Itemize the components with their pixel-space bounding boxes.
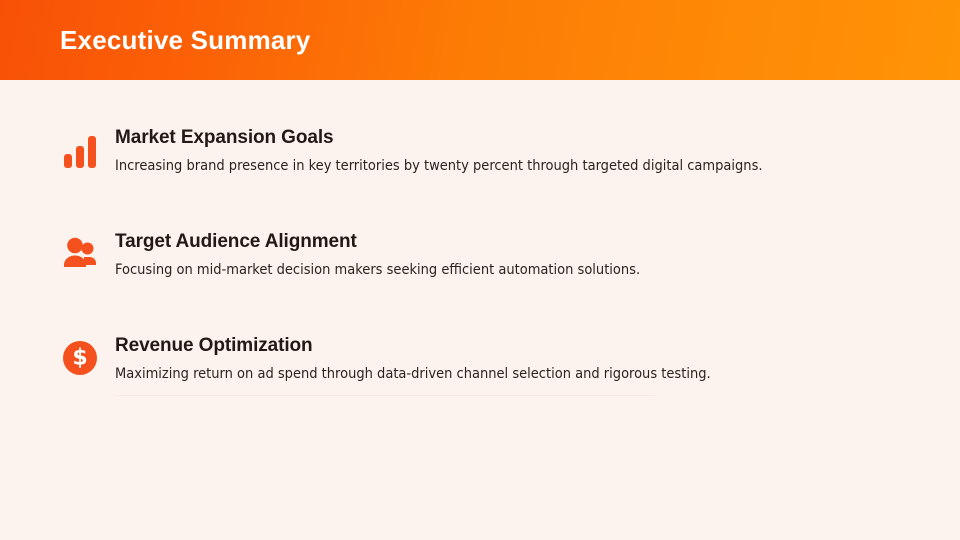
list-item[interactable]: Market Expansion Goals Increasing brand …	[0, 126, 960, 230]
dollar-circle-icon: $	[60, 338, 100, 378]
svg-text:$: $	[72, 346, 87, 371]
list-item-text: Market Expansion Goals Increasing brand …	[115, 126, 763, 176]
list-item-title: Market Expansion Goals	[115, 126, 763, 150]
content-divider	[115, 395, 655, 396]
slide-root: Executive Summary Market Expansion Goals…	[0, 0, 960, 540]
list-item-title: Revenue Optimization	[115, 334, 711, 358]
bar-chart-icon	[60, 130, 100, 170]
list-item-description: Focusing on mid-market decision makers s…	[115, 261, 640, 280]
list-item-text: Target Audience Alignment Focusing on mi…	[115, 230, 640, 280]
summary-list: Market Expansion Goals Increasing brand …	[0, 80, 960, 540]
list-item-title: Target Audience Alignment	[115, 230, 640, 254]
users-group-icon	[60, 234, 100, 274]
list-item-description: Maximizing return on ad spend through da…	[115, 365, 711, 384]
list-item[interactable]: $ Revenue Optimization Maximizing return…	[0, 334, 960, 438]
list-item-text: Revenue Optimization Maximizing return o…	[115, 334, 711, 384]
page-title: Executive Summary	[60, 27, 311, 53]
list-item[interactable]: Target Audience Alignment Focusing on mi…	[0, 230, 960, 334]
slide-header: Executive Summary	[0, 0, 960, 80]
list-item-description: Increasing brand presence in key territo…	[115, 157, 763, 176]
